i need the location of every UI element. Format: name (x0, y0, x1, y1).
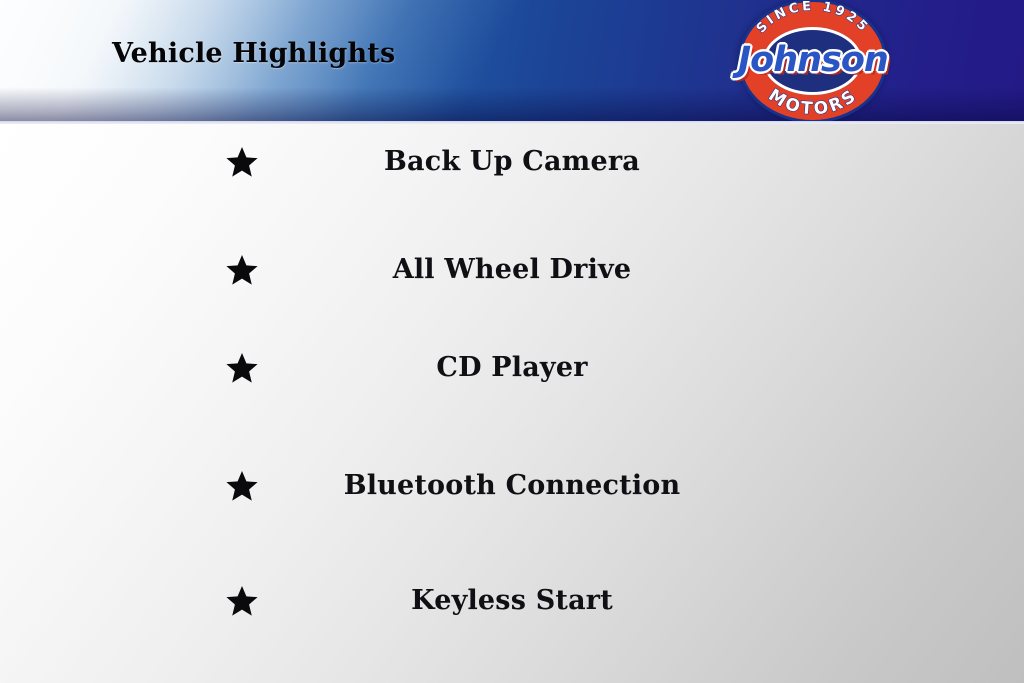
svg-text:MOTORS: MOTORS (765, 85, 862, 119)
logo-motors-text: MOTORS (765, 85, 862, 119)
johnson-motors-logo: SINCE 1925 MOTORS Johnson (727, 1, 899, 121)
highlights-list: Back Up CameraAll Wheel DriveCD PlayerBl… (0, 124, 1024, 683)
highlight-row: All Wheel Drive (0, 244, 1024, 296)
highlight-row: Bluetooth Connection (0, 460, 1024, 512)
highlight-label: Keyless Start (0, 584, 1024, 618)
header-banner: Vehicle Highlights SINCE 1925 MOTORS (0, 0, 1024, 121)
highlight-label: All Wheel Drive (0, 253, 1024, 287)
logo-wordmark: Johnson (727, 38, 899, 82)
page-title: Vehicle Highlights (112, 38, 395, 69)
vehicle-highlights-slide: Vehicle Highlights SINCE 1925 MOTORS (0, 0, 1024, 683)
highlight-label: CD Player (0, 351, 1024, 385)
slide-body: Back Up CameraAll Wheel DriveCD PlayerBl… (0, 124, 1024, 683)
highlight-row: CD Player (0, 342, 1024, 394)
highlight-label: Back Up Camera (0, 145, 1024, 179)
highlight-row: Keyless Start (0, 575, 1024, 627)
highlight-row: Back Up Camera (0, 136, 1024, 188)
highlight-label: Bluetooth Connection (0, 469, 1024, 503)
